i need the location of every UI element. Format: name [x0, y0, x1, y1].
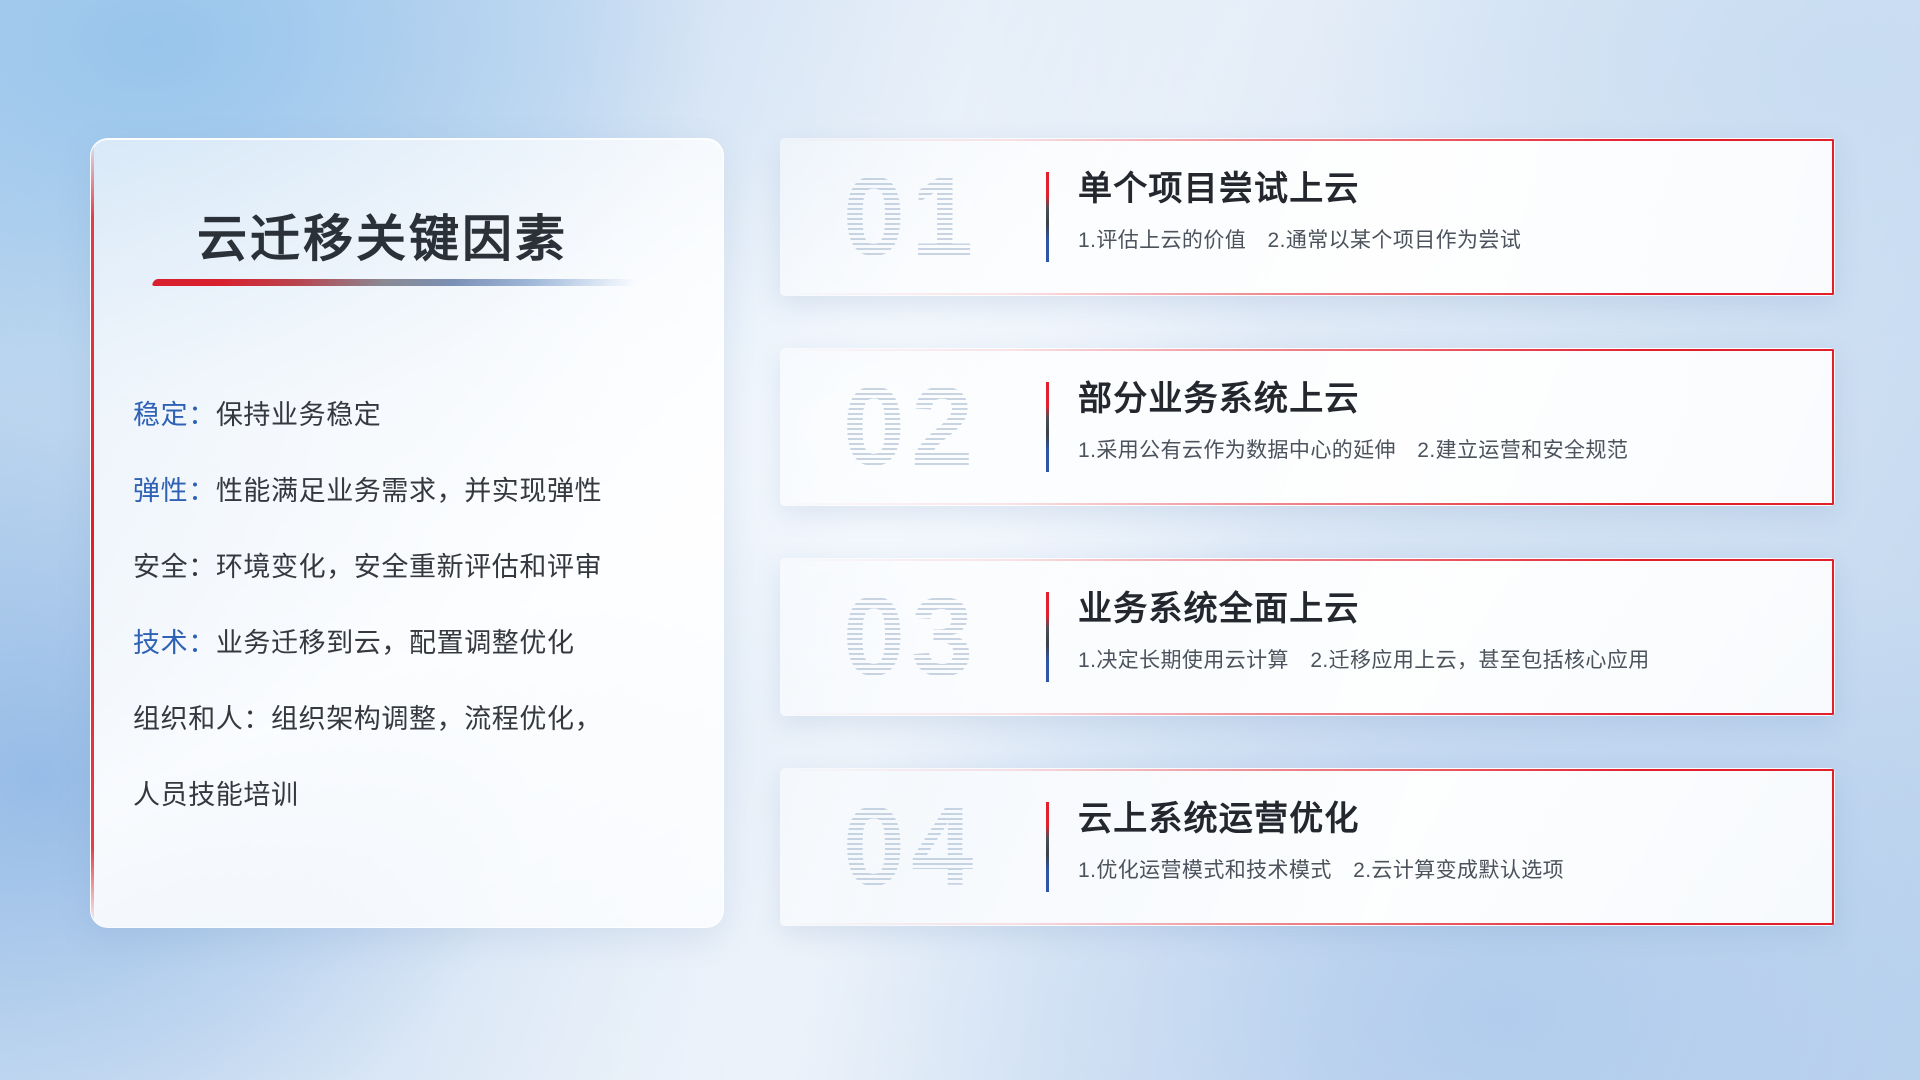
step-title: 单个项目尝试上云 — [1078, 166, 1795, 212]
page-title: 云迁移关键因素 — [197, 199, 568, 271]
factor-text: 性能满足业务需求，并实现弹性 — [216, 476, 602, 506]
migration-steps-list: 01 单个项目尝试上云 1.评估上云的价值 2.通常以某个项目作为尝试 02 部… — [780, 138, 1835, 978]
factor-item-organization-people: 组织和人：组织架构调整，流程优化， — [133, 681, 693, 757]
factor-text: 业务迁移到云，配置调整优化 — [216, 628, 575, 658]
step-divider-bar — [1046, 802, 1049, 892]
step-divider-bar — [1046, 592, 1049, 682]
step-card-02[interactable]: 02 部分业务系统上云 1.采用公有云作为数据中心的延伸 2.建立运营和安全规范 — [780, 348, 1835, 506]
factor-text: 人员技能培训 — [133, 780, 299, 810]
step-text-block: 单个项目尝试上云 1.评估上云的价值 2.通常以某个项目作为尝试 — [1078, 166, 1795, 256]
factor-item-technology: 技术：业务迁移到云，配置调整优化 — [133, 605, 693, 681]
step-number-02: 02 — [806, 368, 1016, 486]
factor-label: 安全： — [133, 552, 216, 582]
step-text-block: 部分业务系统上云 1.采用公有云作为数据中心的延伸 2.建立运营和安全规范 — [1078, 376, 1795, 466]
factor-label: 稳定： — [133, 400, 216, 430]
step-card-04[interactable]: 04 云上系统运营优化 1.优化运营模式和技术模式 2.云计算变成默认选项 — [780, 768, 1835, 926]
step-divider-bar — [1046, 382, 1049, 472]
step-subtitle: 1.评估上云的价值 2.通常以某个项目作为尝试 — [1078, 226, 1795, 256]
panel-left-accent-bar — [91, 139, 94, 927]
key-factors-panel: 云迁移关键因素 稳定：保持业务稳定 弹性：性能满足业务需求，并实现弹性 安全：环… — [90, 138, 724, 928]
factor-label: 技术： — [133, 628, 216, 658]
step-subtitle: 1.采用公有云作为数据中心的延伸 2.建立运营和安全规范 — [1078, 436, 1795, 466]
step-number-01: 01 — [806, 158, 1016, 276]
factor-list: 稳定：保持业务稳定 弹性：性能满足业务需求，并实现弹性 安全：环境变化，安全重新… — [133, 377, 693, 833]
factor-item-elasticity: 弹性：性能满足业务需求，并实现弹性 — [133, 453, 693, 529]
step-number-03: 03 — [806, 578, 1016, 696]
step-text-block: 业务系统全面上云 1.决定长期使用云计算 2.迁移应用上云，甚至包括核心应用 — [1078, 586, 1795, 676]
factor-label: 组织和人： — [133, 704, 271, 734]
factor-text: 组织架构调整，流程优化， — [271, 704, 602, 734]
slide-canvas: 云迁移关键因素 稳定：保持业务稳定 弹性：性能满足业务需求，并实现弹性 安全：环… — [0, 0, 1920, 1080]
step-subtitle: 1.决定长期使用云计算 2.迁移应用上云，甚至包括核心应用 — [1078, 646, 1795, 676]
step-title: 部分业务系统上云 — [1078, 376, 1795, 422]
step-subtitle: 1.优化运营模式和技术模式 2.云计算变成默认选项 — [1078, 856, 1795, 886]
step-title: 业务系统全面上云 — [1078, 586, 1795, 632]
step-card-01[interactable]: 01 单个项目尝试上云 1.评估上云的价值 2.通常以某个项目作为尝试 — [780, 138, 1835, 296]
factor-label: 弹性： — [133, 476, 216, 506]
step-number-04: 04 — [806, 788, 1016, 906]
step-title: 云上系统运营优化 — [1078, 796, 1795, 842]
step-divider-bar — [1046, 172, 1049, 262]
factor-item-stability: 稳定：保持业务稳定 — [133, 377, 693, 453]
step-card-03[interactable]: 03 业务系统全面上云 1.决定长期使用云计算 2.迁移应用上云，甚至包括核心应… — [780, 558, 1835, 716]
factor-text: 保持业务稳定 — [216, 400, 382, 430]
factor-item-security: 安全：环境变化，安全重新评估和评审 — [133, 529, 693, 605]
title-underline-rule — [151, 279, 637, 286]
step-text-block: 云上系统运营优化 1.优化运营模式和技术模式 2.云计算变成默认选项 — [1078, 796, 1795, 886]
factor-text: 环境变化，安全重新评估和评审 — [216, 552, 602, 582]
factor-item-organization-people-cont: 人员技能培训 — [133, 757, 693, 833]
